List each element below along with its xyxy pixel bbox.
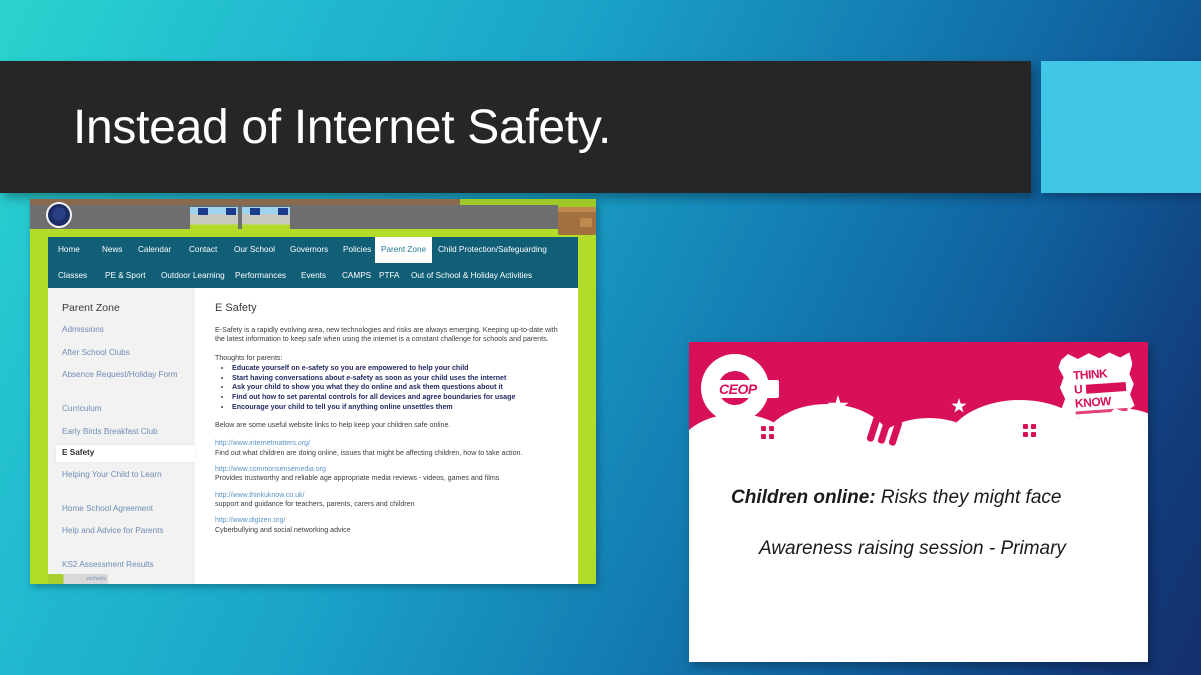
hero-flag-icon	[198, 208, 208, 215]
badge-line-think: THINK	[1073, 367, 1108, 381]
sidebar-item-helping-your-child-to-learn[interactable]: Helping Your Child to Learn	[62, 470, 187, 481]
link-block: http://www.commonsensemedia.org Provides…	[215, 465, 566, 484]
site-sidebar: Parent Zone Admissions After School Club…	[48, 288, 195, 584]
external-link-thinkuknow[interactable]: http://www.thinkuknow.co.uk/	[215, 491, 566, 500]
link-block: http://www.digizen.org/ Cyberbullying an…	[215, 516, 566, 535]
hero-flag-icon	[226, 208, 236, 215]
star-icon	[951, 398, 967, 414]
external-link-internetmatters[interactable]: http://www.internetmatters.org/	[215, 439, 566, 448]
ceop-logo-icon: CEOP	[701, 354, 769, 422]
link-block: http://www.internetmatters.org/ Find out…	[215, 439, 566, 458]
nav-row-primary: Home News Calendar Contact Our School Go…	[48, 237, 578, 263]
poster-headline-bold: Children online:	[731, 487, 876, 508]
poster-headline-rest: Risks they might face	[876, 487, 1062, 508]
nav-item-calendar[interactable]: Calendar	[132, 237, 177, 263]
sidebar-item-home-school-agreement[interactable]: Home School Agreement	[62, 504, 187, 515]
school-website-screenshot: Home News Calendar Contact Our School Go…	[30, 199, 596, 584]
poster-headline: Children online: Risks they might face	[731, 487, 1131, 509]
nav-item-camps[interactable]: CAMPS	[336, 263, 377, 288]
list-item: Start having conversations about e-safet…	[232, 374, 566, 384]
sidebar-item-e-safety[interactable]: E Safety	[56, 445, 195, 462]
external-link-digizen[interactable]: http://www.digizen.org/	[215, 516, 566, 525]
site-main-content: E Safety E-Safety is a rapidly evolving …	[203, 288, 578, 584]
nav-item-performances[interactable]: Performances	[229, 263, 292, 288]
content-intro-paragraph: E-Safety is a rapidly evolving area, new…	[215, 326, 566, 345]
site-navigation: Home News Calendar Contact Our School Go…	[48, 237, 578, 288]
hero-flag-icon	[250, 208, 260, 215]
nav-item-pe-sport[interactable]: PE & Sport	[99, 263, 152, 288]
link-description: Provides trustworthy and reliable age ap…	[215, 474, 566, 483]
link-description: support and guidance for teachers, paren…	[215, 500, 566, 509]
school-crest-icon	[46, 202, 72, 228]
nav-item-outdoor-learning[interactable]: Outdoor Learning	[155, 263, 231, 288]
badge-line-know: KNOW	[1075, 395, 1112, 409]
nav-item-contact[interactable]: Contact	[183, 237, 223, 263]
sidebar-item-absence-request[interactable]: Absence Request/Holiday Form	[62, 370, 187, 381]
site-hero-illustration	[30, 199, 596, 238]
sidebar-item-after-school-clubs[interactable]: After School Clubs	[62, 348, 187, 359]
poster-subline: Awareness raising session - Primary	[759, 538, 1148, 560]
nav-item-out-of-school-holiday-activities[interactable]: Out of School & Holiday Activities	[405, 263, 538, 288]
nav-item-our-school[interactable]: Our School	[228, 237, 281, 263]
nav-item-parent-zone[interactable]: Parent Zone	[375, 237, 432, 263]
site-body: Parent Zone Admissions After School Club…	[48, 288, 578, 584]
badge-line-u: U	[1074, 383, 1083, 396]
nav-item-news[interactable]: News	[96, 237, 128, 263]
nav-item-governors[interactable]: Governors	[284, 237, 334, 263]
accent-block	[1041, 61, 1201, 193]
ceop-thinkuknow-poster: CEOP THINK U KNOW Children online: Risks…	[689, 342, 1148, 662]
page-title: Instead of Internet Safety.	[0, 100, 611, 155]
links-intro-paragraph: Below are some useful website links to h…	[215, 421, 566, 430]
content-heading: E Safety	[215, 302, 566, 314]
nav-item-home[interactable]: Home	[52, 237, 86, 263]
sidebar-item-help-and-advice-for-parents[interactable]: Help and Advice for Parents	[62, 526, 187, 537]
list-item: Find out how to set parental controls fo…	[232, 393, 566, 403]
dots-decoration	[761, 426, 774, 439]
sidebar-title: Parent Zone	[62, 302, 120, 314]
thoughts-list: Educate yourself on e-safety so you are …	[232, 364, 566, 414]
badge-rule	[1086, 382, 1127, 394]
ceop-wordmark: CEOP	[719, 381, 777, 397]
nav-item-ptfa[interactable]: PTFA	[373, 263, 405, 288]
hero-flag-icon	[278, 208, 288, 215]
nav-row-secondary: Classes PE & Sport Outdoor Learning Perf…	[48, 263, 578, 288]
nav-item-policies[interactable]: Policies	[337, 237, 377, 263]
link-description: Cyberbullying and social networking advi…	[215, 526, 566, 535]
nav-item-classes[interactable]: Classes	[52, 263, 93, 288]
external-link-commonsensemedia[interactable]: http://www.commonsensemedia.org	[215, 465, 566, 474]
list-item: Ask your child to show you what they do …	[232, 383, 566, 393]
nav-item-events[interactable]: Events	[295, 263, 332, 288]
list-item: Encourage your child to tell you if anyt…	[232, 403, 566, 413]
sidebar-item-admissions[interactable]: Admissions	[62, 325, 187, 336]
slide-title-banner: Instead of Internet Safety.	[0, 61, 1031, 193]
thoughts-label: Thoughts for parents:	[215, 354, 566, 362]
eschools-logo: eschools	[48, 574, 108, 584]
list-item: Educate yourself on e-safety so you are …	[232, 364, 566, 374]
nav-item-child-protection-safeguarding[interactable]: Child Protection/Safeguarding	[432, 237, 553, 263]
sidebar-item-curriculum[interactable]: Curriculum	[62, 404, 187, 415]
link-description: Find out what children are doing online,…	[215, 449, 566, 458]
dots-decoration	[1023, 424, 1036, 437]
link-block: http://www.thinkuknow.co.uk/ support and…	[215, 491, 566, 510]
sidebar-item-ks2-assessment-results[interactable]: KS2 Assessment Results	[62, 560, 187, 571]
box-illustration-icon	[558, 207, 596, 235]
poster-banner: CEOP THINK U KNOW	[689, 342, 1148, 449]
sidebar-item-early-birds-breakfast-club[interactable]: Early Birds Breakfast Club	[62, 427, 187, 438]
